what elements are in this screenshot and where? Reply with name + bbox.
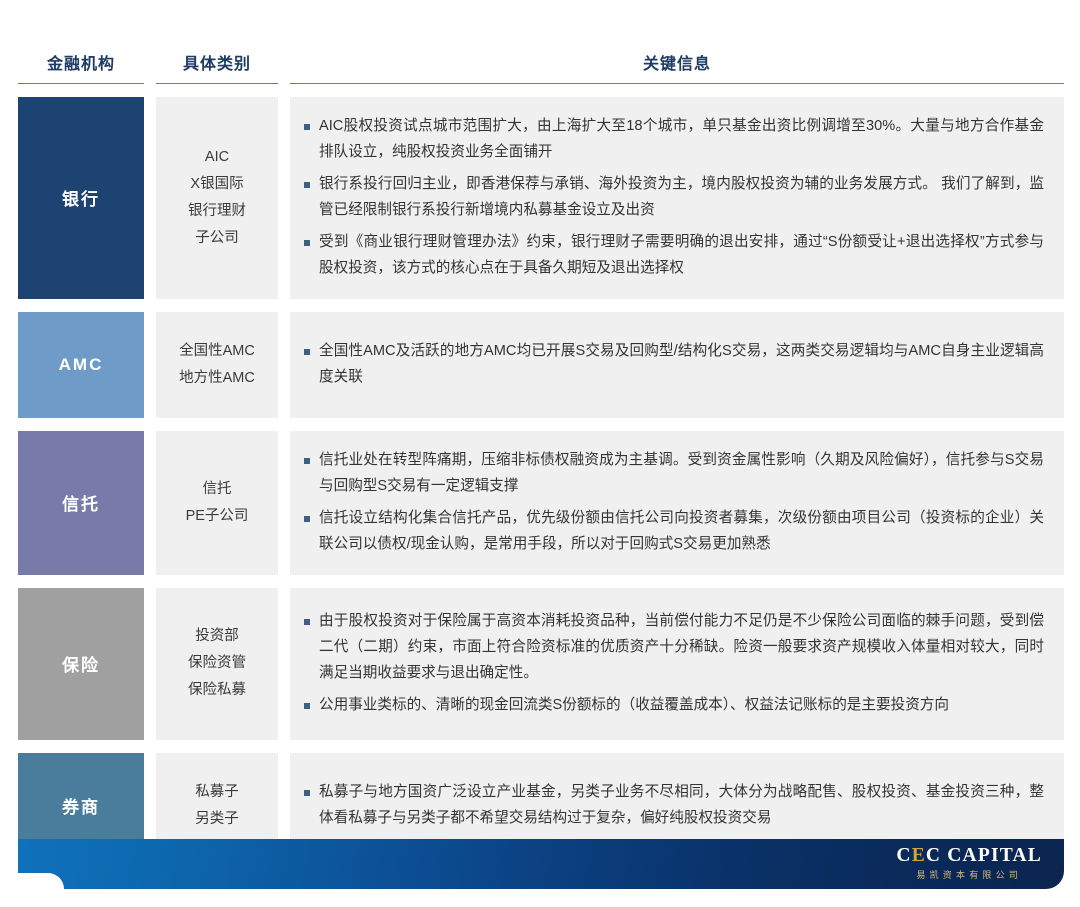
bullet-square-icon xyxy=(304,349,310,355)
category-item: 子公司 xyxy=(195,225,239,252)
table-row: 银行 AIC X银国际 银行理财 子公司 AIC股权投资试点城市范围扩大，由上海… xyxy=(18,97,1064,299)
category-item: 保险私募 xyxy=(188,677,246,704)
bullet-text: 银行系投行回归主业，即香港保荐与承销、海外投资为主，境内股权投资为辅的业务发展方… xyxy=(319,172,1044,224)
bullet-text: 信托业处在转型阵痛期，压缩非标债权融资成为主基调。受到资金属性影响（久期及风险偏… xyxy=(319,448,1044,500)
institution-badge-insurance: 保险 xyxy=(18,588,144,740)
key-info-cell-bank: AIC股权投资试点城市范围扩大，由上海扩大至18个城市，单只基金出资比例调增至3… xyxy=(290,97,1064,299)
bullet-square-icon xyxy=(304,516,310,522)
category-item: 信托 xyxy=(203,476,232,503)
key-info-cell-amc: 全国性AMC及活跃的地方AMC均已开展S交易及回购型/结构化S交易，这两类交易逻… xyxy=(290,312,1064,418)
bullet-text: 私募子与地方国资广泛设立产业基金，另类子业务不尽相同，大体分为战略配售、股权投资… xyxy=(319,780,1044,832)
bullet-text: 信托设立结构化集合信托产品，优先级份额由信托公司向投资者募集，次级份额由项目公司… xyxy=(319,506,1044,558)
bullet-item: 银行系投行回归主业，即香港保荐与承销、海外投资为主，境内股权投资为辅的业务发展方… xyxy=(304,172,1044,224)
bullet-square-icon xyxy=(304,458,310,464)
logo-wordmark: CEC CAPITAL xyxy=(896,846,1042,866)
category-item: 地方性AMC xyxy=(179,365,255,392)
bullet-text: 公用事业类标的、清晰的现金回流类S份额标的（收益覆盖成本）、权益法记账标的是主要… xyxy=(319,693,1044,719)
logo-subtitle: 易凯资本有限公司 xyxy=(896,871,1042,880)
category-cell-trust: 信托 PE子公司 xyxy=(156,431,278,575)
logo-prefix: C xyxy=(896,845,911,866)
bullet-item: 信托设立结构化集合信托产品，优先级份额由信托公司向投资者募集，次级份额由项目公司… xyxy=(304,506,1044,558)
category-item: X银国际 xyxy=(190,171,243,198)
key-info-cell-insurance: 由于股权投资对于保险属于高资本消耗投资品种，当前偿付能力不足仍是不少保险公司面临… xyxy=(290,588,1064,740)
category-cell-amc: 全国性AMC 地方性AMC xyxy=(156,312,278,418)
bullet-square-icon xyxy=(304,790,310,796)
institutions-table: 金融机构 具体类别 关键信息 银行 AIC X银国际 银行理财 子公司 AIC股… xyxy=(18,40,1064,859)
bullet-item: 受到《商业银行理财管理办法》约束，银行理财子需要明确的退出安排，通过“S份额受让… xyxy=(304,230,1044,282)
category-item: PE子公司 xyxy=(186,503,249,530)
category-item: 投资部 xyxy=(195,623,239,650)
key-info-cell-trust: 信托业处在转型阵痛期，压缩非标债权融资成为主基调。受到资金属性影响（久期及风险偏… xyxy=(290,431,1064,575)
category-item: 全国性AMC xyxy=(179,338,255,365)
bullet-square-icon xyxy=(304,703,310,709)
table-row: 信托 信托 PE子公司 信托业处在转型阵痛期，压缩非标债权融资成为主基调。受到资… xyxy=(18,431,1064,575)
bullet-item: 私募子与地方国资广泛设立产业基金，另类子业务不尽相同，大体分为战略配售、股权投资… xyxy=(304,780,1044,832)
institution-badge-bank: 银行 xyxy=(18,97,144,299)
table-header-row: 金融机构 具体类别 关键信息 xyxy=(18,40,1064,84)
bullet-item: 公用事业类标的、清晰的现金回流类S份额标的（收益覆盖成本）、权益法记账标的是主要… xyxy=(304,693,1044,719)
category-cell-insurance: 投资部 保险资管 保险私募 xyxy=(156,588,278,740)
bullet-text: 受到《商业银行理财管理办法》约束，银行理财子需要明确的退出安排，通过“S份额受让… xyxy=(319,230,1044,282)
table-row: 保险 投资部 保险资管 保险私募 由于股权投资对于保险属于高资本消耗投资品种，当… xyxy=(18,588,1064,740)
slide-page: 金融机构 具体类别 关键信息 银行 AIC X银国际 银行理财 子公司 AIC股… xyxy=(0,0,1080,907)
bullet-item: 信托业处在转型阵痛期，压缩非标债权融资成为主基调。受到资金属性影响（久期及风险偏… xyxy=(304,448,1044,500)
category-item: 私募子 xyxy=(195,779,239,806)
bullet-square-icon xyxy=(304,619,310,625)
category-cell-bank: AIC X银国际 银行理财 子公司 xyxy=(156,97,278,299)
bullet-square-icon xyxy=(304,182,310,188)
bullet-square-icon xyxy=(304,124,310,130)
column-header-key-info: 关键信息 xyxy=(290,50,1064,84)
category-item: 保险资管 xyxy=(188,650,246,677)
bullet-text: 由于股权投资对于保险属于高资本消耗投资品种，当前偿付能力不足仍是不少保险公司面临… xyxy=(319,609,1044,687)
bullet-text: 全国性AMC及活跃的地方AMC均已开展S交易及回购型/结构化S交易，这两类交易逻… xyxy=(319,339,1044,391)
logo-accent-letter: E xyxy=(912,845,926,866)
bullet-item: 由于股权投资对于保险属于高资本消耗投资品种，当前偿付能力不足仍是不少保险公司面临… xyxy=(304,609,1044,687)
bullet-text: AIC股权投资试点城市范围扩大，由上海扩大至18个城市，单只基金出资比例调增至3… xyxy=(319,114,1044,166)
footer-bar: CEC CAPITAL 易凯资本有限公司 xyxy=(18,839,1064,889)
bullet-item: 全国性AMC及活跃的地方AMC均已开展S交易及回购型/结构化S交易，这两类交易逻… xyxy=(304,339,1044,391)
institution-badge-amc: AMC xyxy=(18,312,144,418)
category-item: 另类子 xyxy=(195,806,239,833)
category-item: AIC xyxy=(205,144,229,171)
cec-capital-logo: CEC CAPITAL 易凯资本有限公司 xyxy=(896,846,1042,880)
bullet-item: AIC股权投资试点城市范围扩大，由上海扩大至18个城市，单只基金出资比例调增至3… xyxy=(304,114,1044,166)
logo-suffix: C CAPITAL xyxy=(926,845,1042,866)
bullet-square-icon xyxy=(304,240,310,246)
column-header-institution: 金融机构 xyxy=(18,50,144,84)
institution-badge-trust: 信托 xyxy=(18,431,144,575)
category-item: 银行理财 xyxy=(188,198,246,225)
column-header-category: 具体类别 xyxy=(156,50,278,84)
table-row: AMC 全国性AMC 地方性AMC 全国性AMC及活跃的地方AMC均已开展S交易… xyxy=(18,312,1064,418)
